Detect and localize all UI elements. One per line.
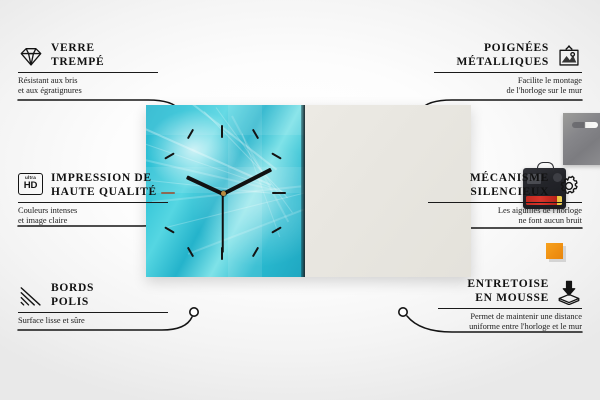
feature-mecanisme-silencieux: MÉCANISME SILENCIEUX Les aiguilles de l'… bbox=[428, 172, 582, 226]
feature-description: Couleurs intenses et image claire bbox=[18, 206, 168, 226]
feature-title: POIGNÉES MÉTALLIQUES bbox=[457, 42, 549, 69]
divider bbox=[18, 72, 158, 73]
product-image bbox=[146, 105, 471, 277]
feature-description: Surface lisse et sûre bbox=[18, 316, 168, 326]
hour-marker bbox=[271, 152, 282, 159]
feature-title: IMPRESSION DE HAUTE QUALITÉ bbox=[51, 172, 157, 199]
hanger-slot bbox=[572, 122, 598, 128]
mechanism-hanging-loop bbox=[537, 162, 554, 171]
feature-poignees-metalliques: POIGNÉES MÉTALLIQUES Facilite le montage… bbox=[434, 42, 582, 96]
divider bbox=[18, 312, 168, 313]
hour-marker bbox=[164, 152, 175, 159]
feature-bords-polis: BORDS POLIS Surface lisse et sûre bbox=[18, 282, 168, 326]
polished-edge-icon bbox=[18, 283, 44, 309]
clock-center-hub bbox=[221, 191, 226, 196]
divider bbox=[428, 202, 582, 203]
feature-description: Facilite le montage de l'horloge sur le … bbox=[434, 76, 582, 96]
gear-icon bbox=[556, 173, 582, 199]
hour-marker bbox=[221, 125, 223, 138]
metal-hanger-plate bbox=[563, 113, 600, 165]
infographic-canvas: VERRE TREMPÉ Résistant aux bris et aux é… bbox=[0, 0, 600, 400]
foam-spacer-icon bbox=[556, 279, 582, 305]
hour-marker bbox=[164, 226, 175, 233]
divider bbox=[18, 202, 168, 203]
endpoint-ring-entretoise bbox=[399, 308, 407, 316]
ultra-hd-icon: ultra HD bbox=[18, 173, 44, 199]
feature-description: Permet de maintenir une distance uniform… bbox=[438, 312, 582, 332]
feature-title: VERRE TREMPÉ bbox=[51, 42, 104, 69]
divider bbox=[438, 308, 582, 309]
feature-description: Les aiguilles de l'horloge ne font aucun… bbox=[428, 206, 582, 226]
diamond-icon bbox=[18, 43, 44, 69]
feature-verre-trempe: VERRE TREMPÉ Résistant aux bris et aux é… bbox=[18, 42, 158, 96]
feature-description: Résistant aux bris et aux égratignures bbox=[18, 76, 158, 96]
feature-entretoise-en-mousse: ENTRETOISE EN MOUSSE Permet de maintenir… bbox=[438, 278, 582, 332]
feature-title: MÉCANISME SILENCIEUX bbox=[470, 172, 549, 199]
feature-impression-haute-qualite: ultra HD IMPRESSION DE HAUTE QUALITÉ Cou… bbox=[18, 172, 168, 226]
feature-title: BORDS POLIS bbox=[51, 282, 94, 309]
foam-spacer bbox=[546, 243, 563, 259]
divider bbox=[434, 72, 582, 73]
endpoint-ring-bords-polis bbox=[190, 308, 198, 316]
glass-clock-face bbox=[146, 105, 305, 277]
feature-title: ENTRETOISE EN MOUSSE bbox=[467, 278, 549, 305]
second-hand bbox=[222, 193, 224, 253]
picture-hanger-icon bbox=[556, 43, 582, 69]
ultra-hd-big-label: HD bbox=[24, 181, 37, 191]
